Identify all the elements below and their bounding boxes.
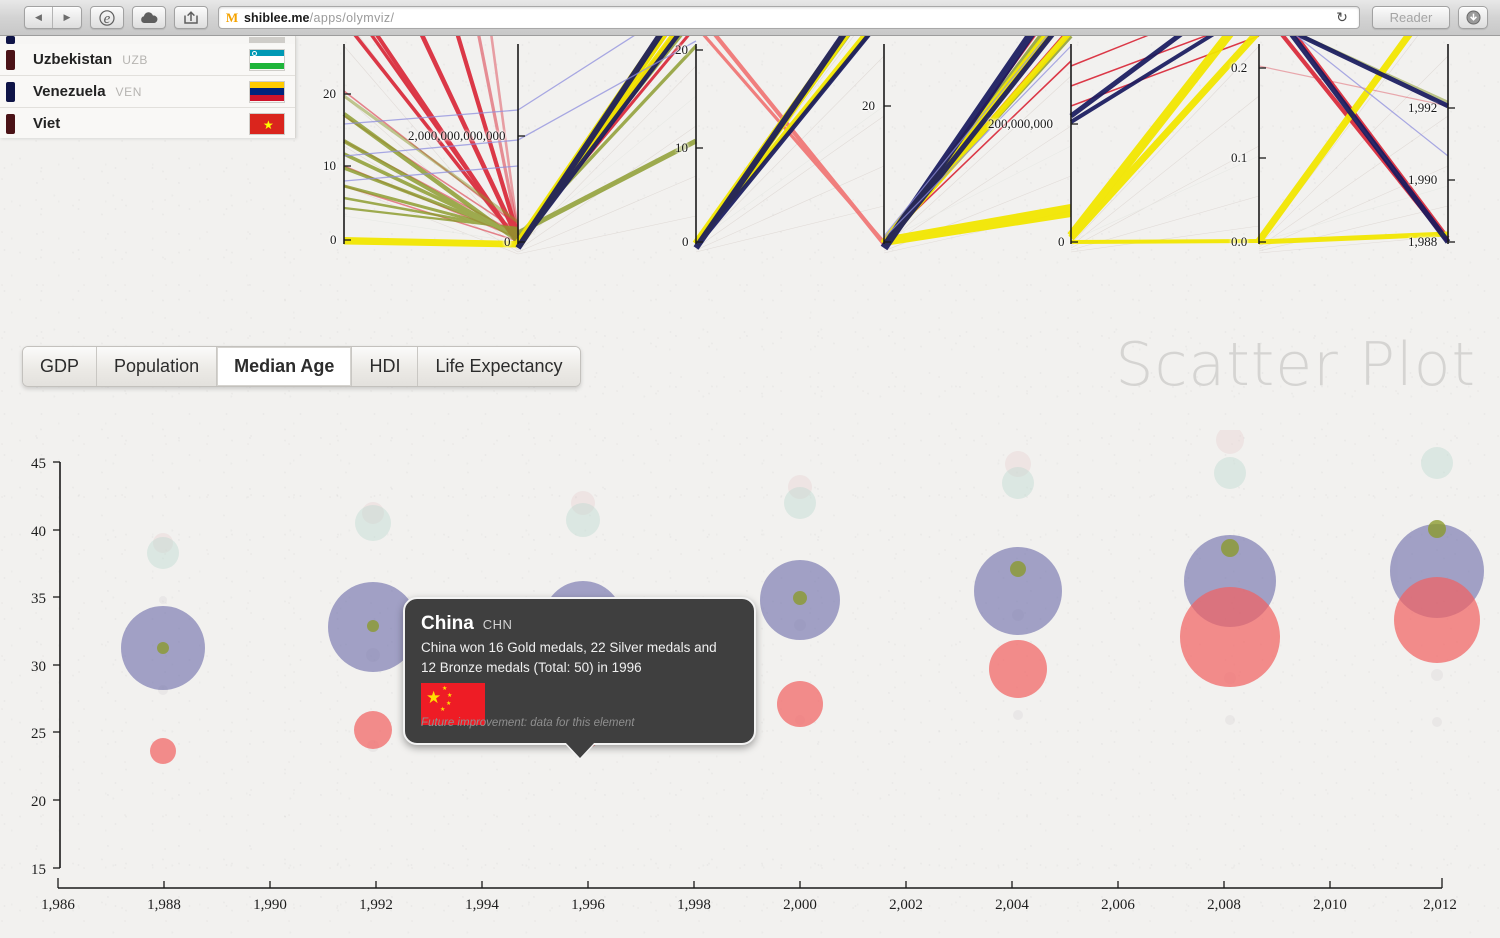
pcp-axis-tick: 0 xyxy=(682,234,689,250)
country-flag: ★ xyxy=(249,113,285,135)
pcp-axis-tick: 20 xyxy=(862,98,875,114)
x-tick-label: 2,000 xyxy=(783,897,817,913)
pcp-axis-tick: 1,992 xyxy=(1408,100,1437,116)
pcp-axis-tick: 0.2 xyxy=(1231,60,1247,76)
x-tick-label: 2,008 xyxy=(1207,897,1241,913)
list-item[interactable]: Viet ★ xyxy=(0,108,295,138)
x-tick-label: 2,010 xyxy=(1313,897,1347,913)
pcp-axis-tick: 1,990 xyxy=(1408,172,1437,188)
pcp-axis-tick: 2,000,000,000,000 xyxy=(408,128,506,144)
tab-median-age[interactable]: Median Age xyxy=(217,347,352,386)
series-russia xyxy=(121,524,1484,690)
list-item[interactable]: Venezuela VEN xyxy=(0,76,295,108)
tab-life-expectancy[interactable]: Life Expectancy xyxy=(418,347,579,386)
y-tick-label: 25 xyxy=(31,726,46,742)
country-name: Venezuela xyxy=(33,83,106,100)
reader-view-icon[interactable]: e xyxy=(90,6,124,29)
pcp-axis-tick: 10 xyxy=(675,140,688,156)
country-color-swatch xyxy=(6,50,15,70)
list-item[interactable] xyxy=(0,36,295,44)
y-tick-label: 15 xyxy=(31,862,46,878)
address-bar[interactable]: M shiblee.me /apps/olymviz/ ↻ xyxy=(218,6,1360,29)
x-tick-label: 1,986 xyxy=(41,897,75,913)
pcp-axis-tick: 20 xyxy=(675,42,688,58)
y-tick-label: 30 xyxy=(31,659,46,675)
x-tick-label: 2,002 xyxy=(889,897,923,913)
x-axis-ticks xyxy=(58,878,1442,888)
icloud-tabs-icon[interactable] xyxy=(132,6,166,29)
tooltip-note: Future improvement: data for this elemen… xyxy=(421,717,635,729)
y-axis-labels: 45 40 35 30 25 20 15 xyxy=(31,456,46,878)
reader-button[interactable]: Reader xyxy=(1372,6,1450,29)
pcp-axis-tick: 20 xyxy=(323,86,336,102)
x-tick-label: 2,004 xyxy=(995,897,1029,913)
site-favicon: M xyxy=(225,11,239,25)
country-name: Uzbekistan xyxy=(33,51,112,68)
tooltip-country-name: China xyxy=(421,613,474,635)
url-host: shiblee.me xyxy=(244,11,310,25)
svg-text:e: e xyxy=(104,11,111,26)
country-code: VEN xyxy=(116,85,142,99)
reload-icon[interactable]: ↻ xyxy=(1331,7,1353,29)
x-tick-label: 2,006 xyxy=(1101,897,1135,913)
metric-tab-bar[interactable]: GDP Population Median Age HDI Life Expec… xyxy=(22,346,581,387)
url-path: /apps/olymviz/ xyxy=(310,11,395,25)
x-tick-label: 1,994 xyxy=(465,897,499,913)
y-tick-label: 35 xyxy=(31,591,46,607)
pcp-axis-tick: 0 xyxy=(504,234,511,250)
y-tick-label: 40 xyxy=(31,524,46,540)
country-color-swatch xyxy=(6,36,15,44)
pcp-axis-tick: 10 xyxy=(323,158,336,174)
country-color-swatch xyxy=(6,82,15,102)
downloads-icon[interactable] xyxy=(1458,6,1488,29)
browser-toolbar: ◀ ▶ e M shiblee.me /apps/olymviz/ ↻ Read… xyxy=(0,0,1500,36)
country-tooltip: China CHN China won 16 Gold medals, 22 S… xyxy=(403,597,756,745)
country-flag xyxy=(249,49,285,71)
x-tick-label: 1,996 xyxy=(571,897,605,913)
country-flag xyxy=(249,37,285,43)
x-tick-label: 1,992 xyxy=(359,897,393,913)
country-color-swatch xyxy=(6,114,15,134)
x-tick-label: 1,988 xyxy=(147,897,181,913)
tab-population[interactable]: Population xyxy=(97,347,217,386)
x-axis-labels: 1,986 1,988 1,990 1,992 1,994 1,996 1,99… xyxy=(41,897,1457,913)
back-icon[interactable]: ◀ xyxy=(25,7,53,28)
pcp-axis-tick: 1,988 xyxy=(1408,234,1437,250)
y-axis-ticks xyxy=(53,462,60,868)
pcp-axis-tick: 0.1 xyxy=(1231,150,1247,166)
y-tick-label: 45 xyxy=(31,456,46,472)
tooltip-header: China CHN xyxy=(421,613,738,635)
pcp-axis-tick: 0 xyxy=(330,232,337,248)
pcp-canvas xyxy=(296,36,1500,261)
country-flag xyxy=(249,81,285,103)
share-icon[interactable] xyxy=(174,6,208,29)
country-code: UZB xyxy=(122,53,148,67)
country-name: Viet xyxy=(33,115,60,132)
page-title: Scatter Plot xyxy=(1115,330,1476,400)
tab-hdi[interactable]: HDI xyxy=(352,347,418,386)
tooltip-description: China won 16 Gold medals, 22 Silver meda… xyxy=(421,638,733,677)
pcp-axis-tick: 0.0 xyxy=(1231,234,1247,250)
x-tick-label: 1,990 xyxy=(253,897,287,913)
nav-buttons-group[interactable]: ◀ ▶ xyxy=(24,6,82,29)
list-item[interactable]: Uzbekistan UZB xyxy=(0,44,295,76)
country-list-panel[interactable]: Uzbekistan UZB Venezuela VEN Viet ★ xyxy=(0,36,296,138)
pcp-axis-tick: 200,000,000 xyxy=(988,116,1053,132)
tab-gdp[interactable]: GDP xyxy=(23,347,97,386)
pcp-axis-tick: 0 xyxy=(1058,234,1065,250)
x-tick-label: 2,012 xyxy=(1423,897,1457,913)
parallel-coordinates-plot[interactable]: 20 10 0 2,000,000,000,000 0 20 10 0 20 2… xyxy=(296,36,1500,261)
forward-icon[interactable]: ▶ xyxy=(53,7,81,28)
y-tick-label: 20 xyxy=(31,794,46,810)
tooltip-arrow xyxy=(565,742,595,758)
x-tick-label: 1,998 xyxy=(677,897,711,913)
tooltip-country-code: CHN xyxy=(483,617,513,632)
